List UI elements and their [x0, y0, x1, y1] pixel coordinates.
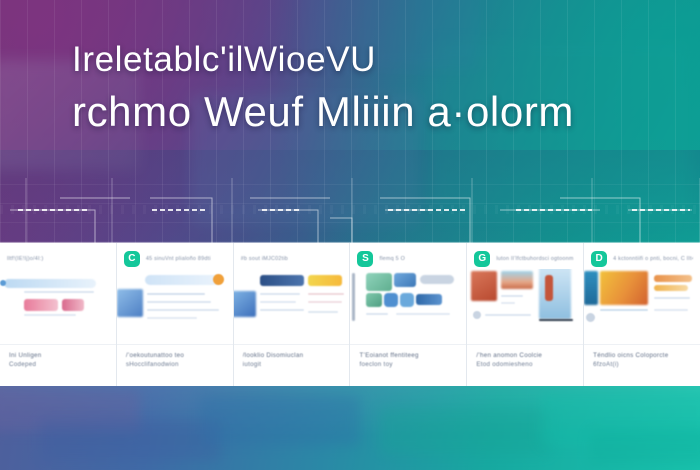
list-item[interactable]: C 45 sinuVnt plialoño 89dti /’oekoutunat… — [117, 243, 234, 386]
mock-line — [147, 293, 205, 295]
mock-line — [260, 309, 304, 311]
list-item[interactable]: lltf!(IE!Ij)o/4I:) Ini Unligen Codeped — [0, 243, 117, 386]
card-header: D 4 kctonntiifi o pnti, bocni, C lIt4t — [584, 243, 700, 269]
mock-chip — [62, 299, 84, 311]
mock-line — [147, 301, 211, 303]
card-title: lltf!(IE!Ij)o/4I:) — [7, 256, 109, 263]
mock-line — [396, 313, 450, 315]
mock-line — [485, 314, 531, 316]
mock-dot — [0, 280, 6, 286]
mock-line — [366, 313, 388, 315]
haze-shape — [200, 396, 360, 446]
mock-rule — [539, 319, 573, 321]
headline-line-2: rchmo Weuf Mliiin a·olorm — [72, 88, 672, 136]
card-preview — [584, 269, 700, 344]
mock-photo — [600, 271, 648, 305]
mock-tile — [366, 293, 382, 307]
list-item[interactable]: S flemq 5 O T’Eoianot ffentiteeg — [350, 243, 467, 386]
mock-line — [260, 293, 300, 295]
caption-line-1: /’oekoutunattoo teo — [126, 351, 224, 360]
mock-dot — [586, 313, 595, 322]
caption-line-2: Etod odomiesheno — [476, 360, 574, 369]
app-badge-icon: S — [357, 251, 373, 267]
card-list: lltf!(IE!Ij)o/4I:) Ini Unligen Codeped — [0, 243, 700, 386]
mock-tile — [394, 273, 416, 287]
card-title: #b sout iMJC02tib — [241, 256, 343, 263]
mock-avatar — [213, 274, 224, 285]
mock-thumbnail — [117, 289, 143, 317]
mock-line — [654, 297, 690, 299]
mock-bar — [654, 285, 688, 291]
mock-line — [24, 291, 94, 293]
card-header: G luton lI’lfctbuhordsci ogtoonm — [467, 243, 583, 269]
app-badge-icon: C — [124, 251, 140, 267]
card-caption: /’oekoutunattoo teo sHocclifanodwion — [117, 344, 233, 386]
mock-line — [501, 302, 515, 304]
card-preview — [0, 269, 116, 344]
caption-line-1: /looklio Disomiuclan — [243, 351, 341, 360]
mock-search-bar — [4, 279, 96, 288]
headline-line-1: Ireletablc'ilWioeVU — [72, 40, 672, 80]
card-caption: T’Eoianot ffentiteeg foeclon toy — [350, 344, 466, 386]
feature-card-strip: lltf!(IE!Ij)o/4I:) Ini Unligen Codeped — [0, 243, 700, 386]
mock-banner — [260, 275, 304, 286]
mock-photo — [501, 271, 533, 289]
mock-line — [147, 317, 197, 319]
mock-tile — [400, 293, 414, 307]
circuit-connector-lines — [0, 178, 700, 250]
caption-line-1: Ini Unligen — [9, 351, 107, 360]
card-header: C 45 sinuVnt plialoño 89dti — [117, 243, 233, 269]
mock-tile — [384, 293, 398, 307]
card-caption: /’hen anomon Coolcie Etod odomiesheno — [467, 344, 583, 386]
caption-line-1: T’Eoianot ffentiteeg — [359, 351, 457, 360]
mock-search-bar — [145, 275, 221, 285]
mock-thumbnail — [234, 291, 256, 317]
app-badge-icon: D — [591, 251, 607, 267]
mock-panel — [539, 269, 571, 319]
mock-banner — [308, 275, 342, 286]
card-preview — [467, 269, 583, 344]
mock-bar — [654, 275, 692, 282]
app-badge-icon: G — [474, 251, 490, 267]
caption-line-1: /’hen anomon Coolcie — [476, 351, 574, 360]
mock-line — [24, 314, 76, 316]
card-preview — [234, 269, 350, 344]
mock-pill — [416, 294, 442, 305]
caption-line-2: iutogit — [243, 360, 341, 369]
card-header: #b sout iMJC02tib — [234, 243, 350, 269]
card-title: 4 kctonntiifi o pnti, bocni, C lIt4t — [613, 256, 693, 263]
mock-line — [260, 301, 296, 303]
mock-pill — [420, 275, 454, 284]
mock-photo — [471, 271, 497, 301]
mock-line — [600, 309, 648, 311]
list-item[interactable]: G luton lI’lfctbuhordsci ogtoonm /’hen a… — [467, 243, 584, 386]
mock-dot — [473, 311, 481, 319]
card-title: 45 sinuVnt plialoño 89dti — [146, 256, 226, 263]
bottom-photo-band — [0, 386, 700, 470]
caption-line-2: sHocclifanodwion — [126, 360, 224, 369]
mock-line — [308, 293, 344, 295]
list-item[interactable]: D 4 kctonntiifi o pnti, bocni, C lIt4t T… — [584, 243, 700, 386]
card-title: luton lI’lfctbuhordsci ogtoonm — [496, 256, 576, 263]
card-preview — [350, 269, 466, 344]
caption-line-2: 6fzoAt(i) — [593, 360, 691, 369]
card-caption: Téndlio oicns Coloporcte 6fzoAt(i) — [584, 344, 700, 386]
mock-tile — [366, 273, 392, 291]
mock-line — [654, 309, 688, 311]
caption-line-2: Codeped — [9, 360, 107, 369]
mock-line — [501, 295, 523, 297]
mock-line — [308, 301, 342, 303]
card-title: flemq 5 O — [379, 256, 459, 263]
mock-sidebar — [352, 273, 355, 321]
caption-line-1: Téndlio oicns Coloporcte — [593, 351, 691, 360]
mock-sidebar — [584, 271, 598, 305]
list-item[interactable]: #b sout iMJC02tib /looklio Disomiuclan i… — [234, 243, 351, 386]
card-header: S flemq 5 O — [350, 243, 466, 269]
headline-block: Ireletablc'ilWioeVU rchmo Weuf Mliiin a·… — [72, 40, 672, 136]
mock-chip — [24, 299, 58, 311]
haze-shape — [380, 408, 550, 454]
banner-image: Ireletablc'ilWioeVU rchmo Weuf Mliiin a·… — [0, 0, 700, 470]
mock-line — [147, 309, 219, 311]
haze-shape — [40, 420, 220, 460]
caption-line-2: foeclon toy — [359, 360, 457, 369]
mock-line — [308, 311, 338, 313]
haze-shape — [590, 430, 700, 466]
card-header: lltf!(IE!Ij)o/4I:) — [0, 243, 116, 269]
mock-figure — [545, 275, 553, 301]
card-caption: Ini Unligen Codeped — [0, 344, 116, 386]
card-caption: /looklio Disomiuclan iutogit — [234, 344, 350, 386]
card-preview — [117, 269, 233, 344]
